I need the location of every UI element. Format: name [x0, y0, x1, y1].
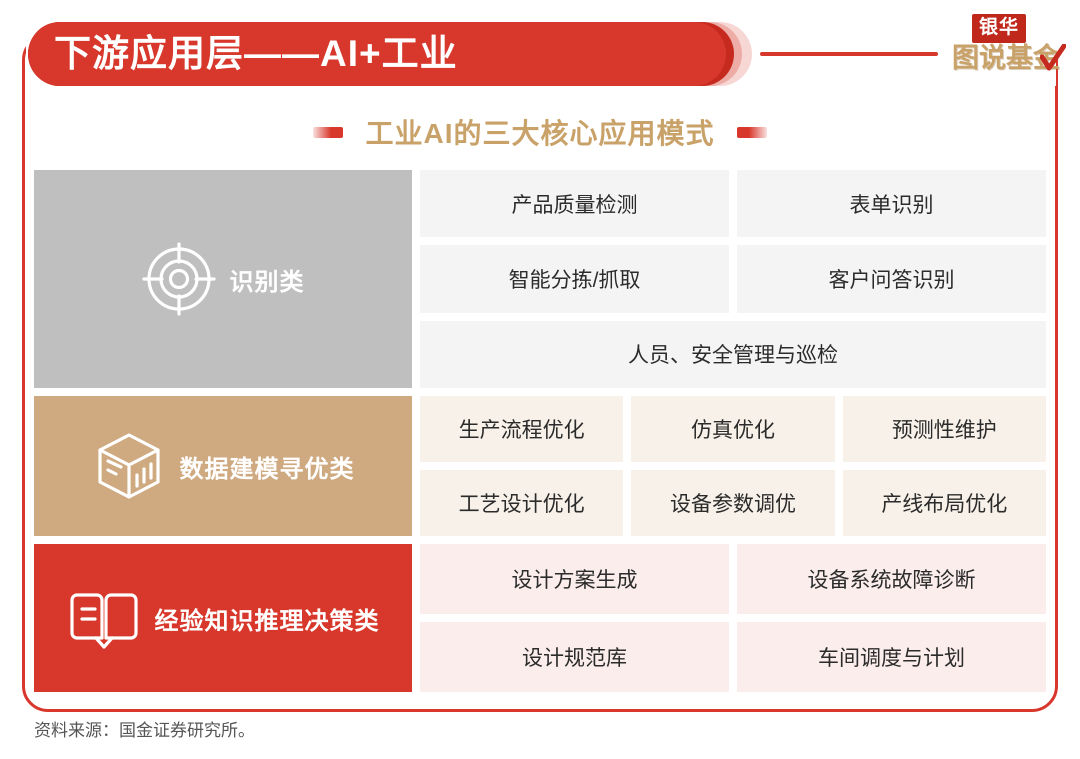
application-cell[interactable]: 客户问答识别	[737, 245, 1046, 312]
cell-line: 工艺设计优化 设备参数调优 产线布局优化	[420, 470, 1046, 536]
category-label-recognition: 识别类	[34, 170, 412, 388]
application-cell[interactable]: 产品质量检测	[420, 170, 729, 237]
application-cell[interactable]: 智能分拣/抓取	[420, 245, 729, 312]
application-cell[interactable]: 设计方案生成	[420, 544, 729, 614]
dash-ornament-left	[313, 127, 343, 138]
application-cell[interactable]: 设备系统故障诊断	[737, 544, 1046, 614]
target-icon	[142, 242, 216, 316]
category-name: 识别类	[230, 262, 305, 297]
application-cell[interactable]: 设计规范库	[420, 622, 729, 692]
category-cells-recognition: 产品质量检测 表单识别 智能分拣/抓取 客户问答识别 人员、安全管理与巡检	[420, 170, 1046, 388]
application-cell[interactable]: 人员、安全管理与巡检	[420, 321, 1046, 388]
category-row-recognition: 识别类 产品质量检测 表单识别 智能分拣/抓取 客户问答识别 人员、安全管理与巡…	[34, 170, 1046, 388]
cell-line: 生产流程优化 仿真优化 预测性维护	[420, 396, 1046, 462]
section-subtitle: 工业AI的三大核心应用模式	[0, 108, 1080, 156]
cell-line: 智能分拣/抓取 客户问答识别	[420, 245, 1046, 312]
page-title: 下游应用层——AI+工业	[54, 22, 458, 86]
category-cells-modeling: 生产流程优化 仿真优化 预测性维护 工艺设计优化 设备参数调优 产线布局优化	[420, 396, 1046, 536]
check-icon	[1040, 44, 1066, 74]
infographic-page: 下游应用层——AI+工业 银华 图说基金 工业AI的三大核心应用模式	[0, 0, 1080, 759]
open-book-icon	[67, 581, 141, 655]
application-cell[interactable]: 设备参数调优	[631, 470, 834, 536]
application-matrix: 识别类 产品质量检测 表单识别 智能分拣/抓取 客户问答识别 人员、安全管理与巡…	[34, 170, 1046, 692]
category-name: 经验知识推理决策类	[155, 601, 380, 636]
application-cell[interactable]: 表单识别	[737, 170, 1046, 237]
brand-logo: 银华 图说基金	[950, 14, 1066, 86]
source-note: 资料来源：国金证券研究所。	[34, 716, 265, 741]
category-label-modeling: 数据建模寻优类	[34, 396, 412, 536]
header-connector-line	[760, 52, 938, 56]
category-label-reasoning: 经验知识推理决策类	[34, 544, 412, 692]
category-row-modeling: 数据建模寻优类 生产流程优化 仿真优化 预测性维护 工艺设计优化 设备参数调优 …	[34, 396, 1046, 536]
application-cell[interactable]: 产线布局优化	[843, 470, 1046, 536]
application-cell[interactable]: 仿真优化	[631, 396, 834, 462]
cell-line: 产品质量检测 表单识别	[420, 170, 1046, 237]
cell-line: 人员、安全管理与巡检	[420, 321, 1046, 388]
dash-ornament-right	[737, 127, 767, 138]
category-name: 数据建模寻优类	[180, 449, 355, 484]
cell-line: 设计方案生成 设备系统故障诊断	[420, 544, 1046, 614]
cell-line: 设计规范库 车间调度与计划	[420, 622, 1046, 692]
logo-badge-text: 银华	[972, 14, 1026, 43]
category-cells-reasoning: 设计方案生成 设备系统故障诊断 设计规范库 车间调度与计划	[420, 544, 1046, 692]
subtitle-text: 工业AI的三大核心应用模式	[365, 112, 714, 152]
data-cube-icon	[92, 429, 166, 503]
application-cell[interactable]: 预测性维护	[843, 396, 1046, 462]
category-row-reasoning: 经验知识推理决策类 设计方案生成 设备系统故障诊断 设计规范库 车间调度与计划	[34, 544, 1046, 692]
application-cell[interactable]: 工艺设计优化	[420, 470, 623, 536]
application-cell[interactable]: 车间调度与计划	[737, 622, 1046, 692]
application-cell[interactable]: 生产流程优化	[420, 396, 623, 462]
